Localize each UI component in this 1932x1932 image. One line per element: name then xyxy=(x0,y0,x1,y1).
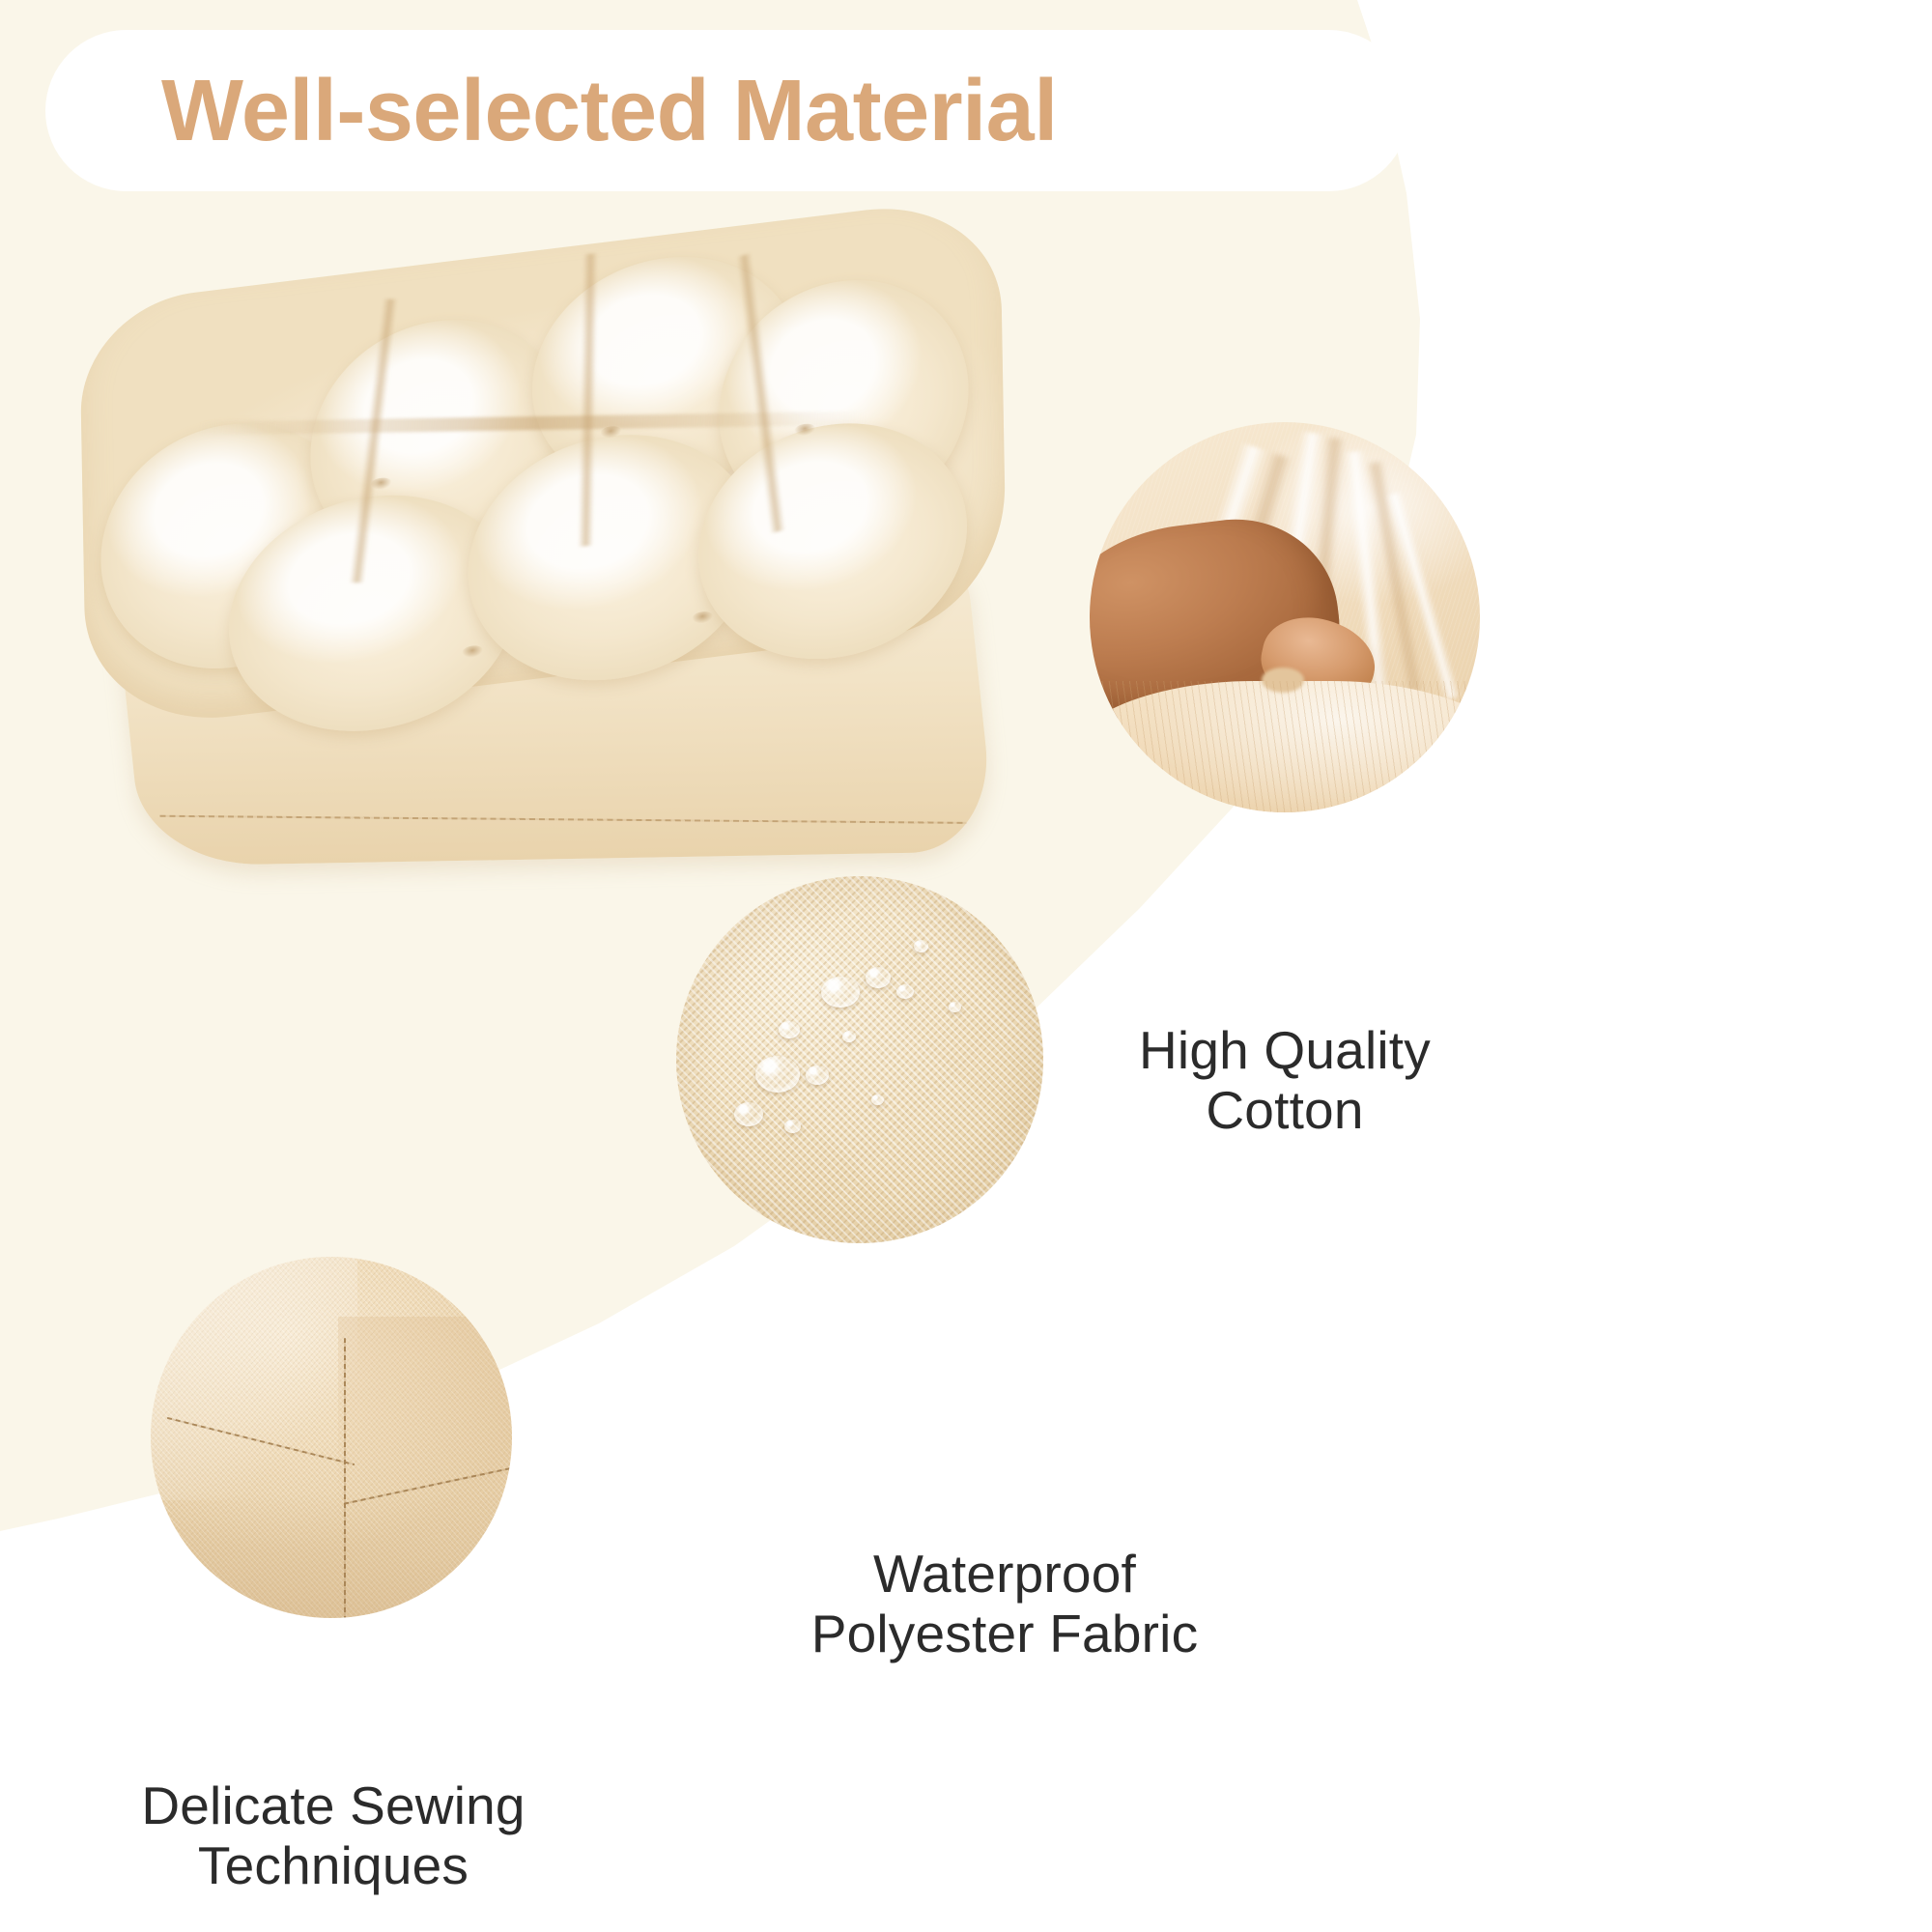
fabric-panel-bottom xyxy=(151,1492,512,1618)
water-droplet xyxy=(871,1094,884,1105)
fabric-panel-left xyxy=(151,1257,357,1500)
fabric-lower-drape xyxy=(1090,681,1480,812)
caption-line-1: High Quality xyxy=(1072,1020,1497,1080)
infographic-stage: Well-selected Material xyxy=(0,0,1932,1932)
caption-line-2: Cotton xyxy=(1072,1080,1497,1140)
vertical-seam-stitch xyxy=(344,1338,346,1618)
water-droplet xyxy=(779,1021,800,1038)
water-droplet xyxy=(949,1002,961,1012)
feature-image-waterproof-polyester-fabric xyxy=(676,876,1043,1243)
water-droplet xyxy=(896,984,914,999)
feature-image-high-quality-cotton xyxy=(1090,422,1480,812)
caption-line-1: Delicate Sewing xyxy=(58,1776,609,1835)
water-droplet xyxy=(821,977,860,1008)
water-droplet xyxy=(784,1120,801,1133)
water-droplet xyxy=(755,1056,800,1093)
title-banner: Well-selected Material xyxy=(45,30,1409,191)
water-droplet xyxy=(842,1031,856,1042)
fabric-notch xyxy=(1262,668,1304,693)
water-droplet xyxy=(734,1102,763,1126)
product-image-cushion xyxy=(68,241,1043,918)
water-droplet xyxy=(806,1065,829,1085)
feature-caption-waterproof-polyester-fabric: Waterproof Polyester Fabric xyxy=(667,1544,1343,1663)
caption-line-2: Techniques xyxy=(58,1835,609,1895)
cushion-body xyxy=(69,227,1028,912)
polyester-weave-texture xyxy=(676,876,1043,1243)
page-title: Well-selected Material xyxy=(161,68,1058,155)
feature-image-delicate-sewing-techniques xyxy=(151,1257,512,1618)
caption-line-1: Waterproof xyxy=(667,1544,1343,1604)
feature-caption-delicate-sewing-techniques: Delicate Sewing Techniques xyxy=(58,1776,609,1895)
water-droplet xyxy=(866,967,891,988)
feature-caption-high-quality-cotton: High Quality Cotton xyxy=(1072,1020,1497,1140)
water-droplet xyxy=(914,940,928,952)
caption-line-2: Polyester Fabric xyxy=(667,1604,1343,1663)
